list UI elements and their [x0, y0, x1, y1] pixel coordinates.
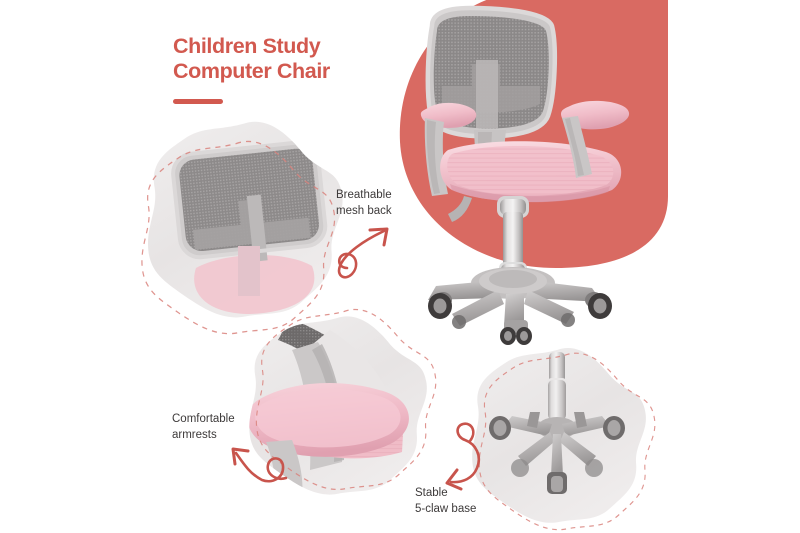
- caster: [585, 292, 612, 319]
- feature-label-mesh-back: Breathable mesh back: [336, 188, 392, 220]
- caster: [511, 459, 529, 477]
- hero-backrest: [428, 8, 555, 136]
- caster: [547, 472, 567, 494]
- hero-armrest-left: [421, 103, 476, 196]
- inset-dashed-outline: [479, 353, 655, 530]
- hero-casters: [428, 292, 612, 345]
- feature-label-armrests-line2: armrests: [172, 428, 235, 444]
- caster: [500, 320, 532, 345]
- feature-label-five-claw-base-line2: 5-claw base: [415, 502, 476, 518]
- feature-label-five-claw-base: Stable 5-claw base: [415, 486, 476, 518]
- hero-gas-cylinder: [497, 196, 529, 280]
- inset-dashed-outline: [142, 141, 335, 333]
- inset-five-claw-base: [472, 348, 655, 530]
- hero-back-post: [474, 130, 506, 170]
- page-title-line1: Children Study: [173, 34, 403, 59]
- inset-dashed-outline: [256, 309, 435, 489]
- caster: [561, 313, 575, 327]
- caster: [452, 315, 466, 329]
- hero-tilt-lever: [448, 196, 472, 222]
- hero-armrest-right: [561, 101, 629, 178]
- caster: [489, 416, 511, 440]
- curly-arrow-down-left-icon: [447, 424, 479, 489]
- curly-arrow-up-right-icon: [339, 229, 387, 277]
- feature-label-mesh-back-line1: Breathable: [336, 188, 392, 204]
- title-underline: [173, 99, 223, 104]
- feature-label-armrests-line1: Comfortable: [172, 412, 235, 428]
- caster: [428, 292, 452, 319]
- coral-blob: [400, 0, 668, 268]
- inset-armrests: [247, 309, 435, 498]
- page-title-line2: Computer Chair: [173, 59, 403, 84]
- feature-label-armrests: Comfortable armrests: [172, 412, 235, 444]
- inset-mesh-back: [142, 122, 343, 334]
- hero-base: [428, 267, 602, 326]
- curly-arrow-up-left-icon: [233, 449, 286, 481]
- feature-label-mesh-back-line2: mesh back: [336, 204, 392, 220]
- caster: [585, 459, 603, 477]
- feature-label-five-claw-base-line1: Stable: [415, 486, 476, 502]
- hero-seat: [440, 141, 621, 202]
- caster: [603, 416, 625, 440]
- infographic-canvas: Children Study Computer Chair: [0, 0, 800, 533]
- page-title: Children Study Computer Chair: [173, 34, 403, 104]
